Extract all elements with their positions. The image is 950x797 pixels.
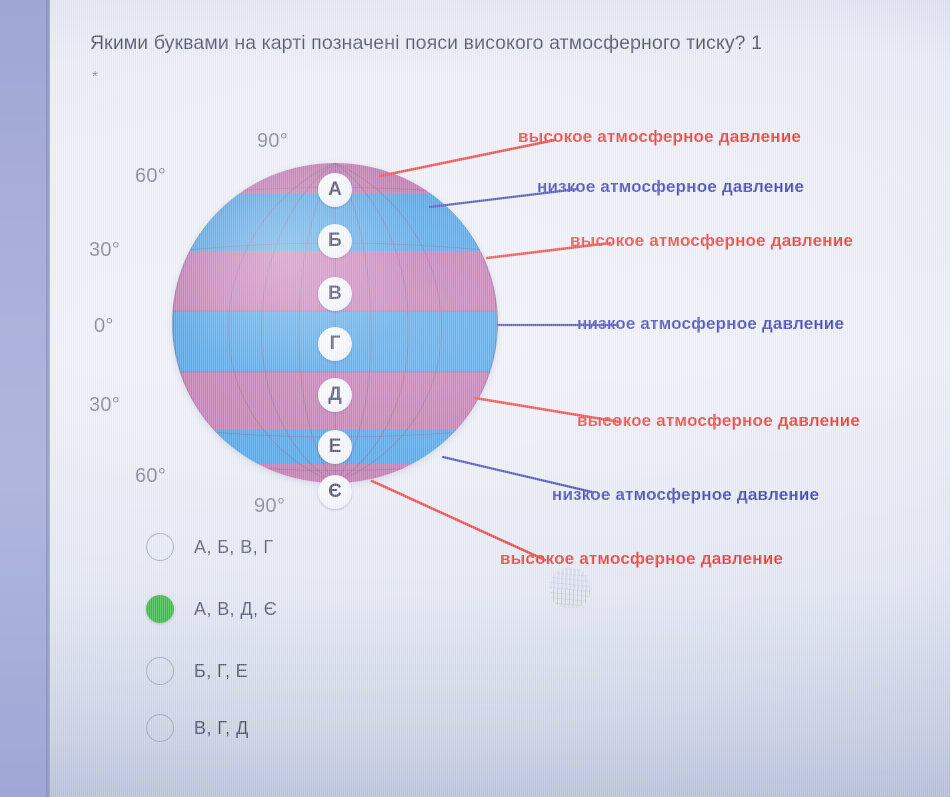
option-label-1: А, Б, В, Г [194, 537, 274, 558]
option-label-2: А, В, Д, Є [194, 599, 277, 620]
zone-badge-b: Б [318, 224, 352, 258]
lat-label-30-north: 30° [89, 239, 120, 262]
annotation-low-3: низкое атмосферное давление [552, 485, 819, 505]
pressure-belt-globe: 90° 60° 30° 0° 30° 60° 90° [122, 120, 542, 520]
annotation-low-1: низкое атмосферное давление [537, 177, 804, 197]
lat-label-equator: 0° [94, 315, 114, 338]
annotation-high-1: высокое атмосферное давление [518, 127, 801, 147]
lat-label-30-south: 30° [89, 394, 120, 417]
option-row-4[interactable]: В, Г, Д [146, 714, 249, 742]
option-row-2[interactable]: А, В, Д, Є [146, 595, 277, 623]
option-row-1[interactable]: А, Б, В, Г [146, 533, 274, 561]
annotation-high-3: высокое атмосферное давление [577, 411, 860, 431]
device-bezel [0, 0, 50, 797]
annotation-high-4: высокое атмосферное давление [500, 549, 783, 569]
lat-label-60-south: 60° [135, 465, 166, 488]
screen-smudge-artifact [550, 568, 590, 608]
lat-label-60-north: 60° [135, 165, 166, 188]
zone-badge-g: Г [318, 327, 352, 361]
radio-option-4[interactable] [146, 714, 174, 742]
zone-badge-ye: Є [318, 475, 352, 509]
question-title: Якими буквами на карті позначені пояси в… [90, 32, 950, 55]
lat-label-90-south: 90° [254, 495, 285, 518]
screen-surface: Якими буквами на карті позначені пояси в… [50, 0, 950, 797]
option-label-4: В, Г, Д [194, 718, 249, 739]
screenshot-root: Якими буквами на карті позначені пояси в… [0, 0, 950, 797]
required-marker: * [92, 68, 98, 85]
option-label-3: Б, Г, Е [194, 661, 248, 682]
option-row-3[interactable]: Б, Г, Е [146, 657, 248, 685]
zone-badge-v: В [318, 277, 352, 311]
radio-option-2[interactable] [146, 595, 174, 623]
annotation-low-2: низкое атмосферное давление [577, 314, 844, 334]
zone-badge-e: Е [318, 430, 352, 464]
radio-option-1[interactable] [146, 533, 174, 561]
lat-label-90-north: 90° [257, 130, 288, 153]
zone-badge-a: А [318, 173, 352, 207]
radio-option-3[interactable] [146, 657, 174, 685]
annotation-high-2: высокое атмосферное давление [570, 231, 853, 251]
zone-badge-d: Д [318, 378, 352, 412]
